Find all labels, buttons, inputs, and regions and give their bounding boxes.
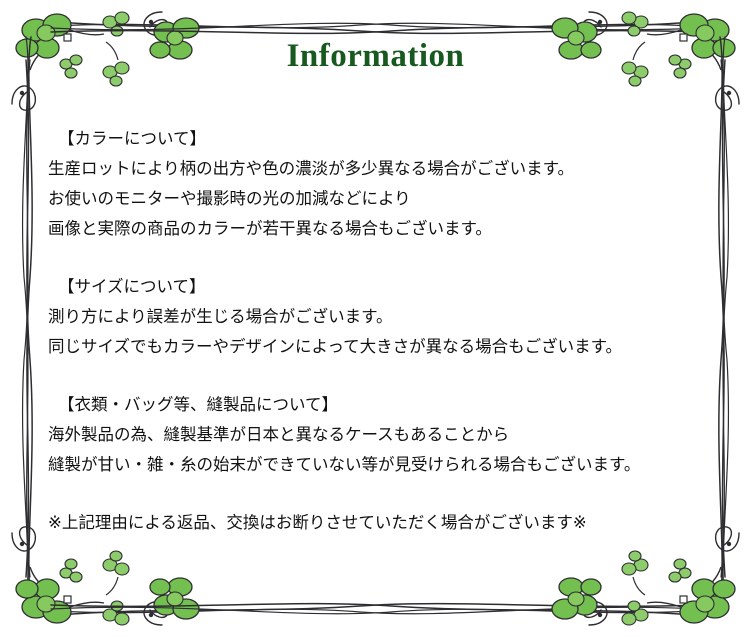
section-line: 同じサイズでもカラーやデザインによって大きさが異なる場合もございます。 <box>48 332 708 362</box>
section-color: 【カラーについて】 生産ロットにより柄の出方や色の濃淡が多少異なる場合がございま… <box>48 124 708 244</box>
information-panel: Information 【カラーについて】 生産ロットにより柄の出方や色の濃淡が… <box>0 0 751 637</box>
section-line: 海外製品の為、縫製基準が日本と異なるケースもあることから <box>48 420 708 450</box>
section-heading: 【カラーについて】 <box>48 124 708 154</box>
page-title: Information <box>0 40 751 73</box>
section-line: お使いのモニターや撮影時の光の加減などにより <box>48 184 708 214</box>
footnote-text: ※上記理由による返品、交換はお断りさせていただく場合がございます※ <box>48 508 708 538</box>
section-line: 測り方により誤差が生じる場合がございます。 <box>48 302 708 332</box>
section-line: 画像と実際の商品のカラーが若干異なる場合もございます。 <box>48 214 708 244</box>
section-line: 縫製が甘い・雑・糸の始末ができていない等が見受けられる場合もございます。 <box>48 450 708 480</box>
section-size: 【サイズについて】 測り方により誤差が生じる場合がございます。 同じサイズでもカ… <box>48 272 708 362</box>
section-footnote: ※上記理由による返品、交換はお断りさせていただく場合がございます※ <box>48 508 708 538</box>
section-heading: 【サイズについて】 <box>48 272 708 302</box>
section-heading: 【衣類・バッグ等、縫製品について】 <box>48 390 708 420</box>
section-line: 生産ロットにより柄の出方や色の濃淡が多少異なる場合がございます。 <box>48 154 708 184</box>
section-sewn-products: 【衣類・バッグ等、縫製品について】 海外製品の為、縫製基準が日本と異なるケースも… <box>48 390 708 480</box>
information-body: 【カラーについて】 生産ロットにより柄の出方や色の濃淡が多少異なる場合がございま… <box>48 124 708 538</box>
